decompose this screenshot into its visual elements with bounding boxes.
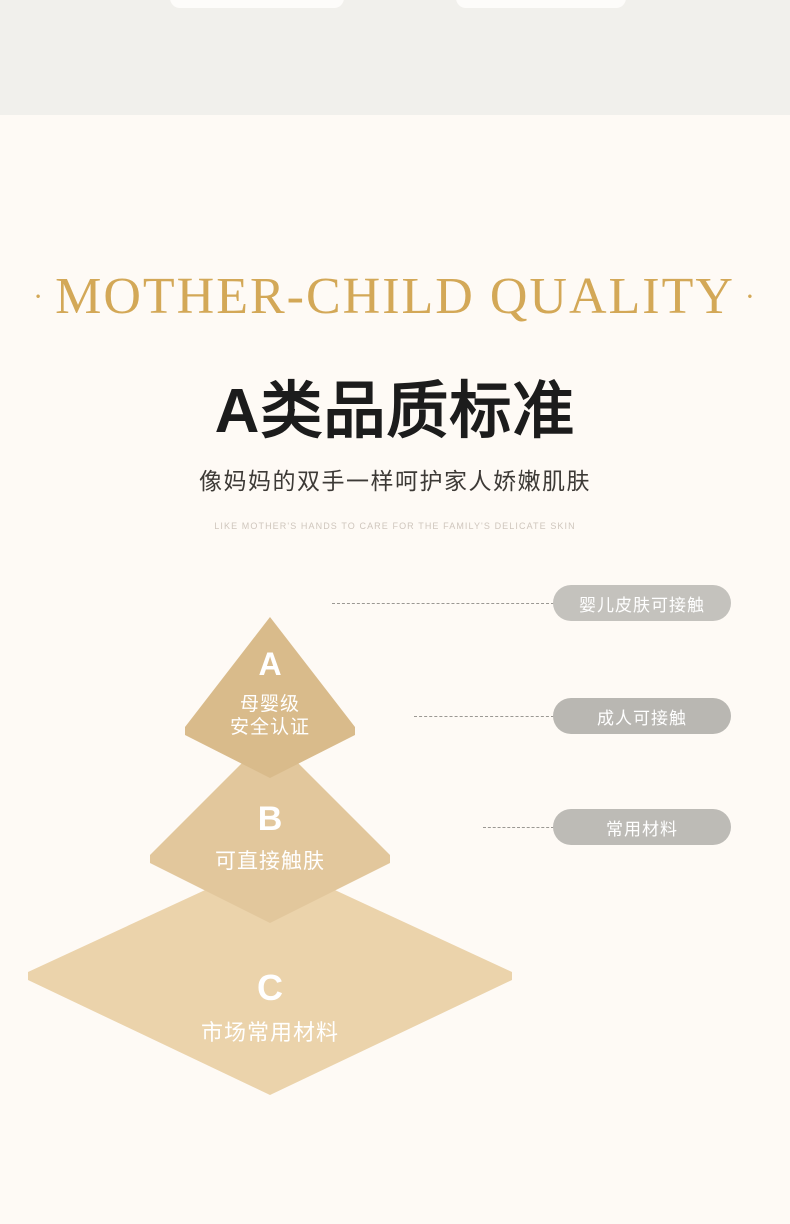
callout-pill-a[interactable]: 婴儿皮肤可接触	[553, 585, 731, 621]
tier-c-label: 市场常用材料	[201, 1020, 339, 1045]
pyramid-tier-b[interactable]: B 可直接触肤	[150, 735, 390, 923]
eyebrow-dot-left: ·	[23, 280, 55, 313]
eyebrow-title: ·MOTHER-CHILD QUALITY·	[0, 271, 790, 323]
tier-a-label-line2: 安全认证	[230, 716, 310, 738]
leader-line-b	[414, 716, 554, 717]
peek-card-right[interactable]	[456, 0, 626, 8]
pyramid-tier-a[interactable]: A 母婴级 安全认证	[185, 617, 355, 778]
callout-pill-b[interactable]: 成人可接触	[553, 698, 731, 734]
page-title: A类品质标准	[0, 381, 790, 443]
leader-line-c	[483, 827, 554, 828]
tier-b-shape	[150, 735, 390, 923]
tier-a-grade: A	[258, 646, 281, 682]
peek-card-left[interactable]	[170, 0, 344, 8]
subtitle-cn: 像妈妈的双手一样呵护家人娇嫩肌肤	[0, 470, 790, 493]
tier-c-grade: C	[257, 967, 283, 1008]
top-band	[0, 0, 790, 115]
tier-a-shape	[185, 617, 355, 778]
content-page: ·MOTHER-CHILD QUALITY· A类品质标准 像妈妈的双手一样呵护…	[0, 115, 790, 1224]
tier-a-label-line1: 母婴级	[240, 693, 300, 715]
tier-b-label: 可直接触肤	[215, 850, 325, 873]
tier-c-shape	[28, 860, 512, 1095]
leader-line-a	[332, 603, 554, 604]
eyebrow-dot-right: ·	[735, 280, 767, 313]
tier-b-grade: B	[258, 800, 283, 838]
callout-pill-c[interactable]: 常用材料	[553, 809, 731, 845]
subtitle-en: LIKE MOTHER'S HANDS TO CARE FOR THE FAMI…	[0, 522, 790, 531]
eyebrow-text: MOTHER-CHILD QUALITY	[55, 268, 735, 325]
pyramid-tier-c[interactable]: C 市场常用材料	[28, 860, 512, 1095]
